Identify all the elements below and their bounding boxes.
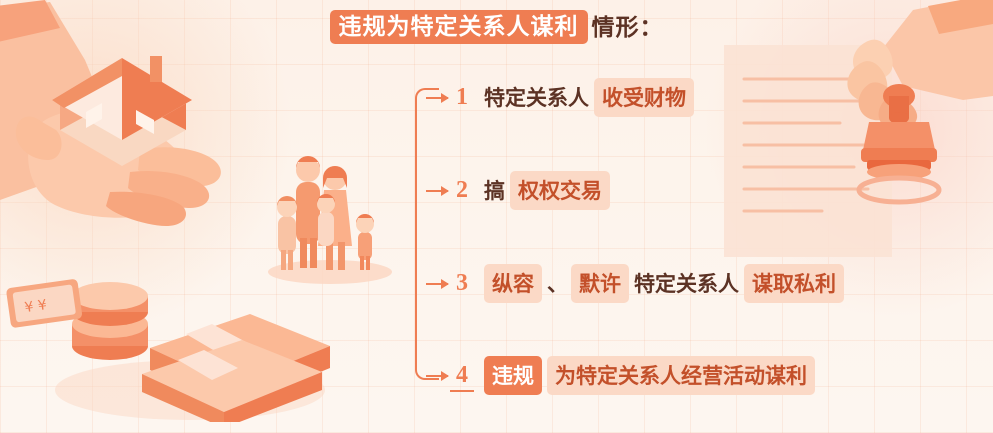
item-segment: 收受财物: [594, 78, 694, 117]
page-title: 违规为特定关系人谋利情形：: [0, 10, 993, 44]
item-segment: 权权交易: [510, 171, 610, 210]
item-segment: 纵容: [484, 264, 542, 303]
bracket-connector: [415, 88, 439, 380]
item-number: 1: [452, 84, 472, 111]
svg-text:¥ ¥: ¥ ¥: [24, 297, 48, 316]
arrow-item-3: [426, 283, 448, 285]
item-number: 2: [452, 177, 472, 204]
item-segment: 违规: [484, 356, 542, 395]
item-separator: 、: [547, 268, 568, 298]
item-number: 3: [452, 270, 472, 297]
arrow-item-2: [426, 190, 448, 192]
title-highlight: 违规为特定关系人谋利: [330, 10, 588, 44]
money-stacks-illustration: ¥ ¥: [0, 262, 330, 422]
item-segment: 搞: [484, 175, 505, 205]
arrow-item-4: [426, 375, 448, 377]
item-number: 4: [452, 362, 472, 389]
family-group-illustration: [262, 120, 397, 285]
item-segment: 特定关系人: [484, 82, 589, 112]
item-segment: 特定关系人: [634, 268, 739, 298]
list-item: 3 纵容 、 默许 特定关系人 谋取私利: [452, 266, 849, 300]
list-item: 1 特定关系人 收受财物: [452, 80, 699, 114]
arrow-item-1: [426, 97, 448, 99]
list-item: 4 违规 为特定关系人经营活动谋利: [452, 358, 820, 392]
item-segment: 为特定关系人经营活动谋利: [547, 356, 815, 395]
title-tail: 情形：: [592, 16, 664, 39]
item-segment: 谋取私利: [744, 264, 844, 303]
item-segment: 默许: [571, 264, 629, 303]
list-item: 2 搞 权权交易: [452, 173, 615, 207]
